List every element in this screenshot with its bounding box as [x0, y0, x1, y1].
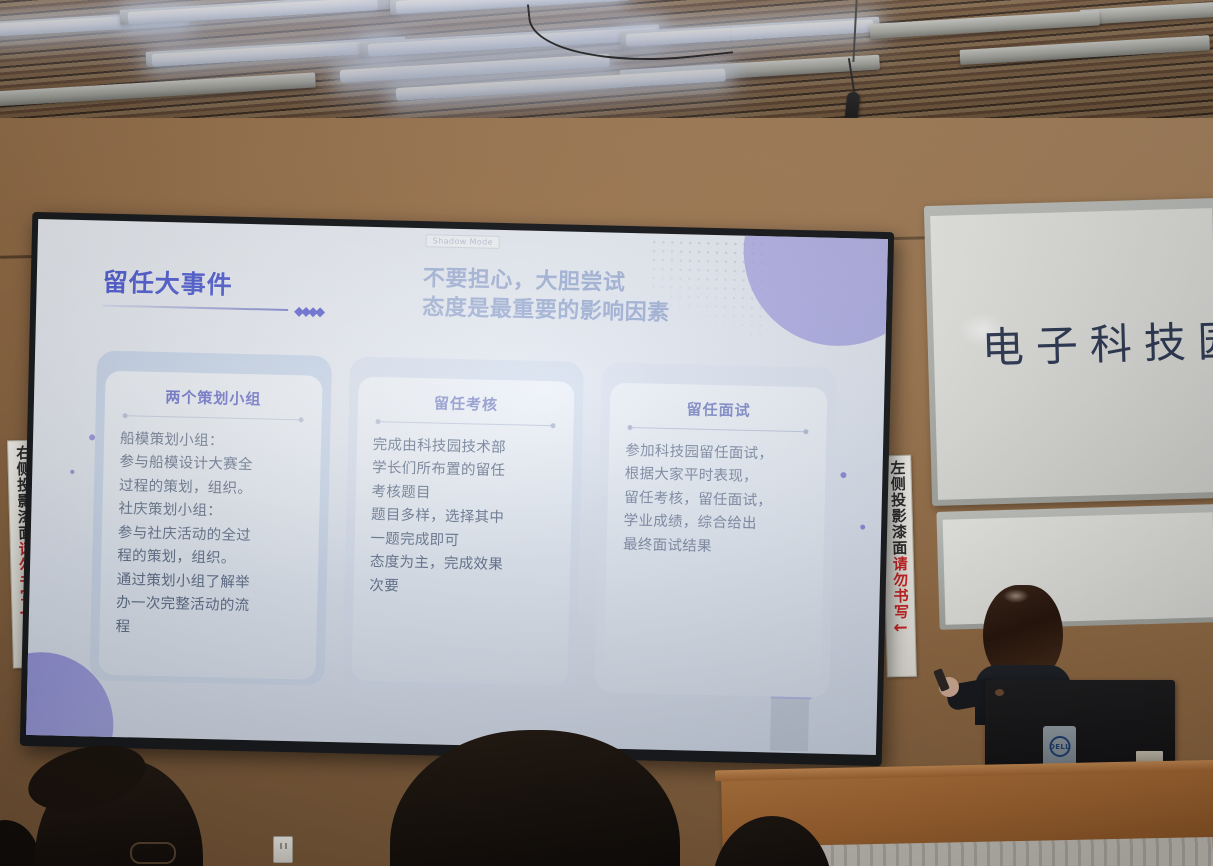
whiteboard-handwriting: 电子科技园 [981, 307, 1213, 376]
card-divider [125, 415, 302, 420]
title-arrow-icon: ◆◆◆◆ [294, 304, 322, 320]
slide-canvas: Shadow Mode 留任大事件 ◆◆◆◆ 不要担心，大胆尝试 态度是最重要的… [26, 219, 888, 755]
monitor-badge [995, 689, 1004, 696]
card-divider [630, 427, 807, 432]
card-divider [377, 421, 554, 426]
sign-right-red-text: 请勿书写 [891, 556, 908, 620]
title-underline: ◆◆◆◆ [102, 305, 288, 311]
card-body: 参加科技园留任面试， 根据大家平时表现， 留任考核，留任面试， 学业成绩，综合给… [623, 440, 810, 562]
lecture-hall-photo: 右侧投影漆面 请勿书写 → 左侧投影漆面 请勿书写 ← 电子科技园 [0, 0, 1213, 866]
dell-logo-icon: DELL [1049, 736, 1070, 757]
page-title: 留任大事件 [102, 263, 289, 303]
card-heading: 留任考核 [373, 391, 558, 416]
shadow-mode-badge: Shadow Mode [426, 234, 501, 249]
wall-outlet [273, 836, 293, 863]
card-line: 次要 [369, 575, 554, 603]
card-line: 程 [115, 616, 300, 644]
card-heading: 留任面试 [626, 397, 811, 422]
slide-title-block: 留任大事件 ◆◆◆◆ [102, 263, 289, 311]
whiteboard-surface: 电子科技园 [930, 208, 1213, 500]
eyeglasses [130, 842, 176, 864]
presentation-display: Shadow Mode 留任大事件 ◆◆◆◆ 不要担心，大胆尝试 态度是最重要的… [20, 212, 894, 766]
slide-headline: 不要担心，大胆尝试 态度是最重要的影响因素 [422, 264, 671, 328]
card-line: 办一次完整活动的流 [116, 592, 301, 620]
slide-card-inner: 两个策划小组 船模策划小组： 参与船模设计大赛全 过程的策划，组织。 社庆策划小… [99, 371, 323, 680]
card-heading: 两个策划小组 [121, 385, 306, 410]
card-body: 船模策划小组： 参与船模设计大赛全 过程的策划，组织。 社庆策划小组： 参与社庆… [115, 428, 305, 644]
headline-line-2: 态度是最重要的影响因素 [422, 293, 670, 328]
sign-right-arrow-icon: ← [893, 620, 908, 637]
card-line: 最终面试结果 [623, 534, 808, 562]
hair-highlight [1003, 589, 1029, 603]
whiteboard: 电子科技园 [924, 198, 1213, 506]
slide-card-inner: 留任考核 完成由科技园技术部 学长们所布置的留任 考核题目 题目多样，选择其中 … [351, 377, 575, 686]
slide-card: 两个策划小组 船模策划小组： 参与船模设计大赛全 过程的策划，组织。 社庆策划小… [89, 350, 331, 685]
slide-card-row: 两个策划小组 船模策划小组： 参与船模设计大赛全 过程的策划，组织。 社庆策划小… [89, 350, 837, 697]
slide-card: 留任考核 完成由科技园技术部 学长们所布置的留任 考核题目 题目多样，选择其中 … [342, 356, 584, 691]
sign-right-black-text: 左侧投影漆面 [888, 460, 906, 556]
card-body: 完成由科技园技术部 学长们所布置的留任 考核题目 题目多样，选择其中 一题完成即… [369, 434, 557, 603]
slide-card-inner: 留任面试 参加科技园留任面试， 根据大家平时表现， 留任考核，留任面试， 学业成… [604, 383, 828, 692]
slide-card: 留任面试 参加科技园留任面试， 根据大家平时表现， 留任考核，留任面试， 学业成… [595, 362, 837, 697]
